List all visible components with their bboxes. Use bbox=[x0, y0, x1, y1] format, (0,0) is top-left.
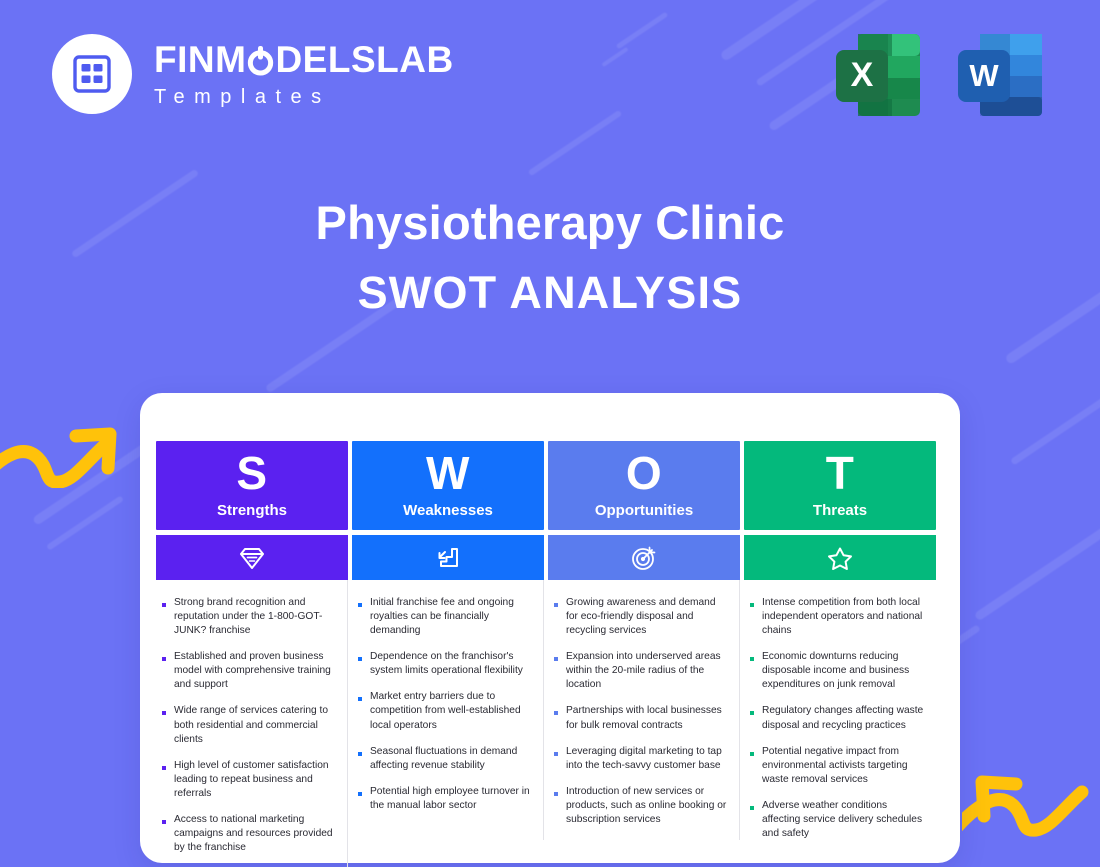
brand-power-o bbox=[246, 41, 275, 78]
office-format-icons: X W bbox=[830, 26, 1050, 122]
swot-matrix: S Strengths Strong brand recognition and… bbox=[156, 441, 942, 867]
list-item-text: Established and proven business model wi… bbox=[174, 650, 336, 692]
list-item-text: Market entry barriers due to competition… bbox=[370, 690, 532, 732]
list-item-text: Economic downturns reducing disposable i… bbox=[762, 650, 925, 692]
bullet-dot bbox=[358, 603, 362, 607]
bullet-dot bbox=[750, 657, 754, 661]
column-letter: O bbox=[626, 450, 662, 496]
column-icon-band-weaknesses bbox=[352, 535, 544, 580]
bullet-dot bbox=[358, 657, 362, 661]
column-icon-band-opportunities bbox=[548, 535, 740, 580]
column-letter: W bbox=[426, 450, 470, 496]
list-item-text: Leveraging digital marketing to tap into… bbox=[566, 745, 728, 773]
bullet-dot bbox=[358, 792, 362, 796]
list-item: Introduction of new services or products… bbox=[554, 785, 728, 827]
page-subtitle: SWOT ANALYSIS bbox=[0, 267, 1100, 319]
bullet-dot bbox=[162, 603, 166, 607]
column-icon-band-strengths bbox=[156, 535, 348, 580]
column-body-weaknesses: Initial franchise fee and ongoing royalt… bbox=[352, 580, 544, 840]
bullet-dot bbox=[750, 711, 754, 715]
list-item-text: High level of customer satisfaction lead… bbox=[174, 759, 336, 801]
list-item: Adverse weather conditions affecting ser… bbox=[750, 799, 925, 841]
svg-text:X: X bbox=[851, 56, 874, 94]
list-item-text: Introduction of new services or products… bbox=[566, 785, 728, 827]
column-body-threats: Intense competition from both local inde… bbox=[744, 580, 936, 853]
diamond-icon bbox=[238, 544, 266, 572]
brand-name-part2: DELSLAB bbox=[275, 41, 453, 78]
bullet-dot bbox=[554, 711, 558, 715]
page-title: Physiotherapy Clinic bbox=[0, 196, 1100, 250]
bullet-dot bbox=[554, 657, 558, 661]
column-header-weaknesses[interactable]: W Weaknesses bbox=[352, 441, 544, 530]
list-item-text: Partnerships with local businesses for b… bbox=[566, 704, 728, 732]
bullet-dot bbox=[162, 711, 166, 715]
svg-text:W: W bbox=[969, 58, 999, 93]
descending-stairs-icon bbox=[434, 544, 462, 572]
logo-badge bbox=[52, 34, 132, 114]
list-item: Potential negative impact from environme… bbox=[750, 745, 925, 787]
list-item: Leveraging digital marketing to tap into… bbox=[554, 745, 728, 773]
bullet-dot bbox=[358, 697, 362, 701]
column-header-strengths[interactable]: S Strengths bbox=[156, 441, 348, 530]
list-item: Intense competition from both local inde… bbox=[750, 596, 925, 638]
list-item: Expansion into underserved areas within … bbox=[554, 650, 728, 692]
list-item: High level of customer satisfaction lead… bbox=[162, 759, 336, 801]
star-icon bbox=[826, 544, 854, 572]
list-item: Seasonal fluctuations in demand affectin… bbox=[358, 745, 532, 773]
list-item: Market entry barriers due to competition… bbox=[358, 690, 532, 732]
bullet-dot bbox=[162, 766, 166, 770]
list-item-text: Strong brand recognition and reputation … bbox=[174, 596, 336, 638]
swot-column-strengths: S Strengths Strong brand recognition and… bbox=[156, 441, 348, 867]
brand-name-part1: FINM bbox=[154, 41, 246, 78]
list-item-text: Adverse weather conditions affecting ser… bbox=[762, 799, 925, 841]
title-block: Physiotherapy Clinic SWOT ANALYSIS bbox=[0, 196, 1100, 319]
list-item-text: Potential negative impact from environme… bbox=[762, 745, 925, 787]
column-letter: S bbox=[236, 450, 267, 496]
bullet-dot bbox=[750, 806, 754, 810]
bullet-dot bbox=[162, 820, 166, 824]
column-label: Opportunities bbox=[595, 503, 693, 518]
excel-icon: X bbox=[830, 26, 928, 122]
column-body-strengths: Strong brand recognition and reputation … bbox=[156, 580, 348, 867]
page-header: FINM DELSLAB Templates bbox=[0, 0, 1100, 150]
list-item: Economic downturns reducing disposable i… bbox=[750, 650, 925, 692]
bullet-dot bbox=[162, 657, 166, 661]
grid-squares-icon bbox=[72, 54, 112, 94]
list-item-text: Wide range of services catering to both … bbox=[174, 704, 336, 746]
column-letter: T bbox=[826, 450, 855, 496]
column-icon-band-threats bbox=[744, 535, 936, 580]
list-item: Strong brand recognition and reputation … bbox=[162, 596, 336, 638]
brand-tagline: Templates bbox=[154, 87, 454, 107]
list-item: Potential high employee turnover in the … bbox=[358, 785, 532, 813]
brand-logo[interactable]: FINM DELSLAB Templates bbox=[52, 34, 454, 114]
swot-column-opportunities: O Opportunities Growing awareness and de… bbox=[548, 441, 740, 867]
list-item-text: Potential high employee turnover in the … bbox=[370, 785, 532, 813]
wavy-arrow-down-left-icon bbox=[962, 750, 1100, 840]
list-item: Access to national marketing campaigns a… bbox=[162, 813, 336, 855]
column-body-opportunities: Growing awareness and demand for eco-fri… bbox=[548, 580, 740, 840]
list-item: Regulatory changes affecting waste dispo… bbox=[750, 704, 925, 732]
list-item-text: Dependence on the franchisor's system li… bbox=[370, 650, 532, 678]
column-label: Strengths bbox=[217, 503, 287, 518]
bullet-dot bbox=[750, 603, 754, 607]
swot-column-weaknesses: W Weaknesses Initial franchise fee and o… bbox=[352, 441, 544, 867]
column-label: Threats bbox=[813, 503, 867, 518]
list-item-text: Intense competition from both local inde… bbox=[762, 596, 925, 638]
swot-column-threats: T Threats Intense competition from both … bbox=[744, 441, 936, 867]
bullet-dot bbox=[358, 752, 362, 756]
list-item: Growing awareness and demand for eco-fri… bbox=[554, 596, 728, 638]
list-item: Partnerships with local businesses for b… bbox=[554, 704, 728, 732]
swot-card: S Strengths Strong brand recognition and… bbox=[140, 393, 960, 863]
column-header-opportunities[interactable]: O Opportunities bbox=[548, 441, 740, 530]
column-header-threats[interactable]: T Threats bbox=[744, 441, 936, 530]
bullet-dot bbox=[554, 792, 558, 796]
list-item: Established and proven business model wi… bbox=[162, 650, 336, 692]
list-item-text: Access to national marketing campaigns a… bbox=[174, 813, 336, 855]
column-label: Weaknesses bbox=[403, 503, 493, 518]
wavy-arrow-up-right-icon bbox=[0, 404, 128, 488]
list-item: Wide range of services catering to both … bbox=[162, 704, 336, 746]
bullet-dot bbox=[750, 752, 754, 756]
bullet-dot bbox=[554, 603, 558, 607]
list-item-text: Growing awareness and demand for eco-fri… bbox=[566, 596, 728, 638]
list-item-text: Regulatory changes affecting waste dispo… bbox=[762, 704, 925, 732]
list-item-text: Initial franchise fee and ongoing royalt… bbox=[370, 596, 532, 638]
list-item: Initial franchise fee and ongoing royalt… bbox=[358, 596, 532, 638]
list-item: Dependence on the franchisor's system li… bbox=[358, 650, 532, 678]
target-icon bbox=[630, 544, 658, 572]
brand-text: FINM DELSLAB Templates bbox=[154, 41, 454, 107]
word-icon: W bbox=[952, 26, 1050, 122]
brand-name: FINM DELSLAB bbox=[154, 41, 454, 78]
list-item-text: Seasonal fluctuations in demand affectin… bbox=[370, 745, 532, 773]
bullet-dot bbox=[554, 752, 558, 756]
list-item-text: Expansion into underserved areas within … bbox=[566, 650, 728, 692]
